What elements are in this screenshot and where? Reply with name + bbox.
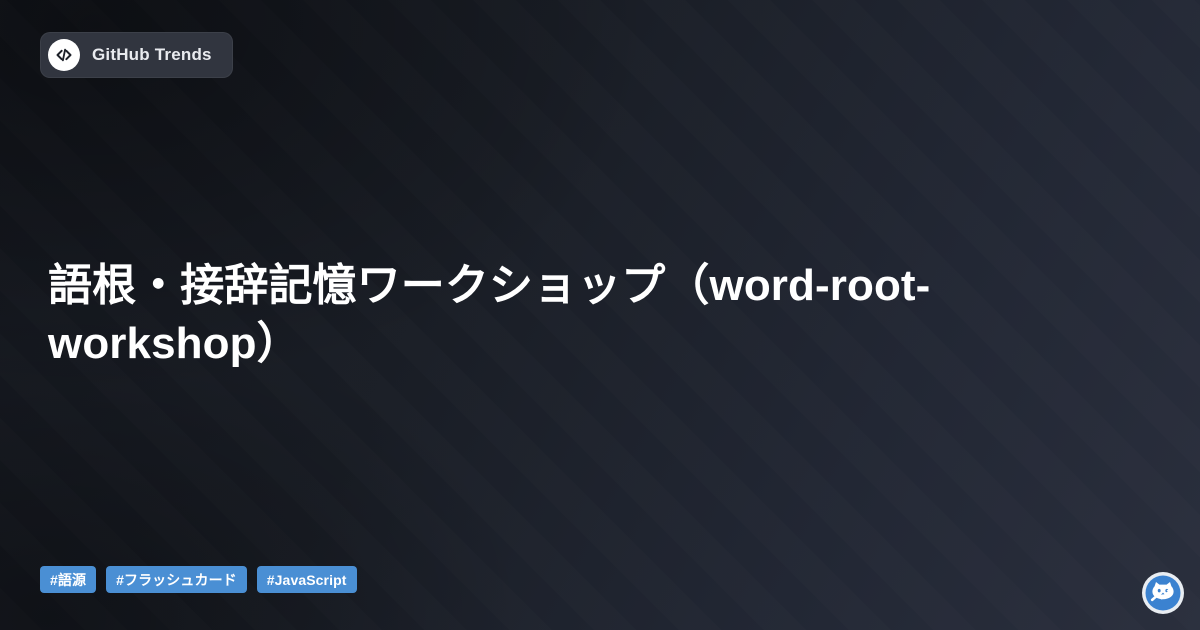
tag-item[interactable]: #フラッシュカード — [106, 566, 247, 593]
code-brackets-icon — [48, 39, 80, 71]
page-title: 語根・接辞記憶ワークショップ（word-root-workshop） — [48, 257, 1090, 373]
source-badge: GitHub Trends — [40, 32, 233, 78]
tag-item[interactable]: #JavaScript — [257, 566, 357, 593]
source-badge-label: GitHub Trends — [92, 45, 212, 65]
tag-list: #語源 #フラッシュカード #JavaScript — [40, 566, 357, 593]
og-card: GitHub Trends 語根・接辞記憶ワークショップ（word-root-w… — [0, 0, 1200, 630]
title-container: 語根・接辞記憶ワークショップ（word-root-workshop） — [48, 0, 1090, 630]
tag-item[interactable]: #語源 — [40, 566, 96, 593]
octocat-trend-logo-icon — [1141, 571, 1185, 615]
